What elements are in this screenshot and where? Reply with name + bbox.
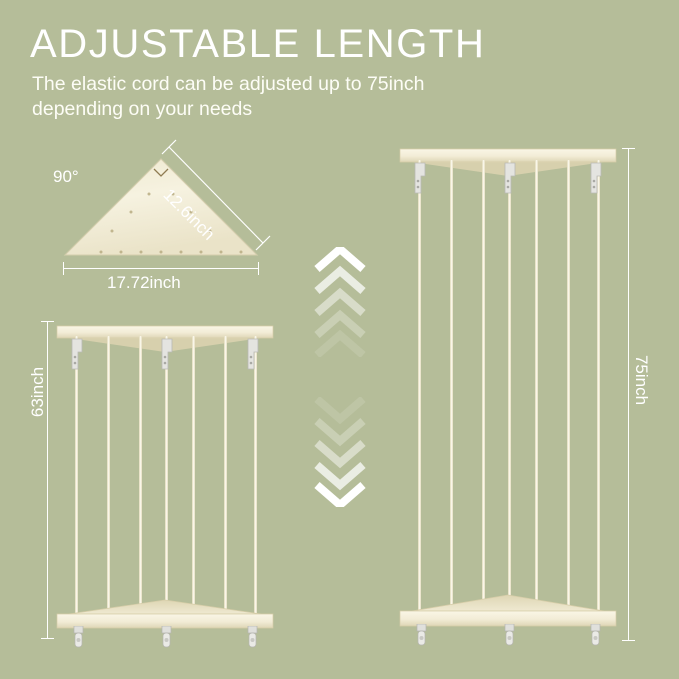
page-subtitle: The elastic cord can be adjusted up to 7… xyxy=(32,72,452,122)
caster-wheel-icon xyxy=(159,626,175,652)
hypotenuse-dimension-line xyxy=(151,147,281,277)
base-label: 17.72inch xyxy=(107,273,181,293)
base-dimension-line xyxy=(63,268,259,269)
chevron-down-stack xyxy=(305,397,375,507)
caster-wheel-icon xyxy=(71,626,87,652)
chevron-up-stack xyxy=(305,247,375,357)
short-unit-dimension-tick-bottom xyxy=(41,638,54,639)
angle-label: 90° xyxy=(53,167,79,187)
tall-unit-dimension-tick-top xyxy=(622,148,635,149)
page-title: ADJUSTABLE LENGTH xyxy=(30,22,485,67)
infographic-canvas: ADJUSTABLE LENGTH The elastic cord can b… xyxy=(0,0,679,679)
caster-wheel-icon xyxy=(414,624,430,650)
short-unit-dimension-tick-top xyxy=(41,321,54,322)
tall-unit-height-label: 75inch xyxy=(631,340,651,420)
bracket-icon xyxy=(502,162,522,202)
short-unit-height-label: 63inch xyxy=(28,352,48,432)
tall-unit-drawing xyxy=(398,143,618,653)
bracket-icon xyxy=(412,162,432,202)
bracket-icon xyxy=(588,162,608,202)
caster-wheel-icon xyxy=(588,624,604,650)
base-dimension-tick-right xyxy=(258,262,259,275)
corner-shelf-unit-short xyxy=(55,318,275,653)
tall-unit-dimension-tick-bottom xyxy=(622,640,635,641)
bracket-icon xyxy=(159,338,179,378)
bracket-icon xyxy=(69,338,89,378)
corner-shelf-top-view: 90° 12.6inch 17.72inch xyxy=(55,145,295,305)
caster-wheel-icon xyxy=(245,626,261,652)
tall-unit-dimension-line xyxy=(628,148,629,641)
bracket-icon xyxy=(245,338,265,378)
corner-shelf-unit-tall xyxy=(398,143,618,653)
caster-wheel-icon xyxy=(502,624,518,650)
base-dimension-tick-left xyxy=(63,262,64,275)
